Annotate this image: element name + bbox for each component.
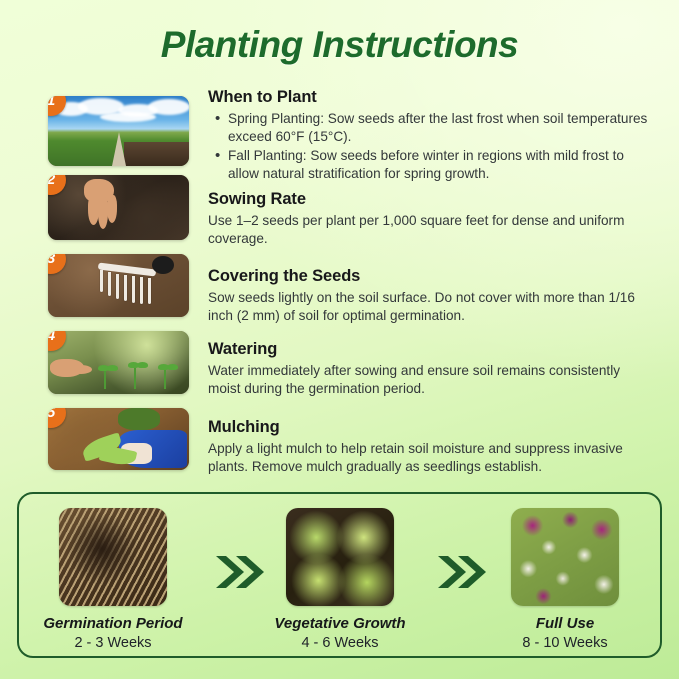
timeline-stage-1: Germination Period 2 - 3 Weeks (33, 508, 193, 651)
step-1-bullet-2: Fall Planting: Sow seeds before winter i… (228, 147, 648, 183)
step-5-heading: Mulching (208, 418, 648, 437)
step-3-image: 3 (48, 254, 189, 317)
timeline-stage-1-duration: 2 - 3 Weeks (33, 635, 193, 651)
infographic-page: Planting Instructions 1 (0, 0, 679, 679)
growth-timeline-panel: Germination Period 2 - 3 Weeks Vegetativ… (17, 492, 662, 658)
step-3-heading: Covering the Seeds (208, 267, 648, 286)
step-4-heading: Watering (208, 340, 648, 359)
step-5-body: Apply a light mulch to help retain soil … (208, 440, 648, 476)
timeline-stage-3: Full Use 8 - 10 Weeks (485, 508, 645, 651)
step-1-heading: When to Plant (208, 88, 648, 107)
timeline-stage-2-label: Vegetative Growth (260, 615, 420, 632)
step-4-body: Water immediately after sowing and ensur… (208, 362, 648, 398)
step-1-bullets: Spring Planting: Sow seeds after the las… (208, 110, 648, 183)
timeline-stage-2-duration: 4 - 6 Weeks (260, 635, 420, 651)
timeline-stage-3-duration: 8 - 10 Weeks (485, 635, 645, 651)
timeline-stage-2: Vegetative Growth 4 - 6 Weeks (260, 508, 420, 651)
step-1-image: 1 (48, 96, 189, 166)
step-5-image: 5 (48, 408, 189, 470)
step-2-image: 2 (48, 175, 189, 240)
step-4-image: 4 (48, 331, 189, 394)
step-1-bullet-1: Spring Planting: Sow seeds after the las… (228, 110, 648, 146)
page-title: Planting Instructions (0, 24, 679, 66)
double-chevron-right-icon-1 (212, 550, 266, 599)
double-chevron-right-icon-2 (434, 550, 488, 599)
step-3-body: Sow seeds lightly on the soil surface. D… (208, 289, 648, 325)
step-2-body: Use 1–2 seeds per plant per 1,000 square… (208, 212, 648, 248)
step-2-heading: Sowing Rate (208, 190, 648, 209)
timeline-stage-3-image (511, 508, 619, 606)
timeline-stage-1-label: Germination Period (33, 615, 193, 632)
timeline-stage-1-image (59, 508, 167, 606)
timeline-stage-2-image (286, 508, 394, 606)
timeline-stage-3-label: Full Use (485, 615, 645, 632)
